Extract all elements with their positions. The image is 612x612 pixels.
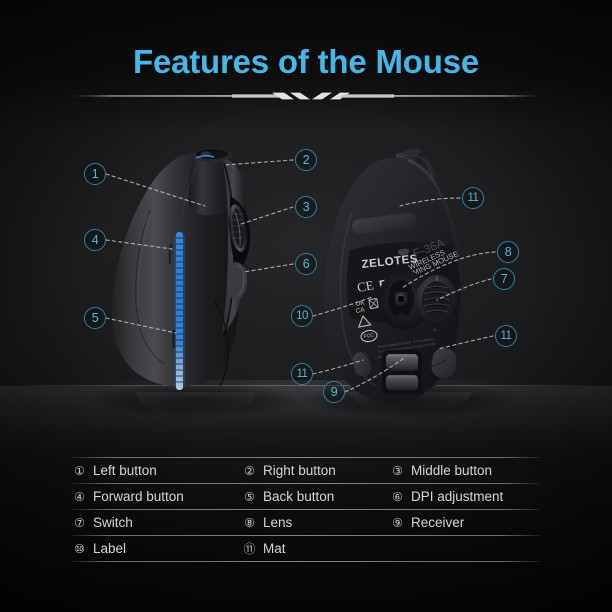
legend-item-10: ⑩ Label	[72, 542, 242, 556]
legend-item-4: ④ Forward button	[72, 490, 242, 504]
legend-number: ⑥	[390, 491, 405, 503]
callout-marker-4[interactable]: 4	[84, 229, 106, 251]
legend-number: ②	[242, 465, 257, 477]
svg-text:II: II	[434, 327, 436, 332]
legend-number: ③	[390, 465, 405, 477]
legend-number: ④	[72, 491, 87, 503]
legend-divider	[72, 561, 540, 562]
legend-label: DPI adjustment	[411, 490, 503, 504]
legend-item-7: ⑦ Switch	[72, 516, 242, 530]
callout-marker-9[interactable]: 9	[323, 381, 345, 403]
legend-item-1: ① Left button	[72, 464, 242, 478]
legend-item-6: ⑥ DPI adjustment	[390, 490, 540, 504]
legend-label: Back button	[263, 490, 334, 504]
legend-number: ⑩	[72, 543, 87, 555]
legend-row: ⑩ Label ⑪ Mat	[72, 536, 540, 561]
legend-item-8: ⑧ Lens	[242, 516, 390, 530]
led-strip	[174, 232, 185, 390]
legend-row: ⑦ Switch ⑧ Lens ⑨ Receiver	[72, 510, 540, 535]
legend-row: ④ Forward button ⑤ Back button ⑥ DPI adj…	[72, 484, 540, 509]
legend-label: Mat	[263, 542, 286, 556]
legend-item-5: ⑤ Back button	[242, 490, 390, 504]
callout-marker-6[interactable]: 6	[295, 253, 317, 275]
legend-item-11: ⑪ Mat	[242, 542, 390, 556]
legend-label: Right button	[263, 464, 336, 478]
legend-label: Switch	[93, 516, 133, 530]
legend-number: ⑤	[242, 491, 257, 503]
callout-marker-11-top[interactable]: 11	[462, 187, 484, 209]
callout-marker-8[interactable]: 8	[497, 241, 519, 263]
callout-marker-11-right[interactable]: 11	[495, 325, 517, 347]
callout-marker-2[interactable]: 2	[295, 149, 317, 171]
legend-item-2: ② Right button	[242, 464, 390, 478]
legend-item-9: ⑨ Receiver	[390, 516, 540, 530]
product-feature-diagram: Features of the Mouse	[0, 0, 612, 612]
legend-label: Label	[93, 542, 126, 556]
callout-marker-3[interactable]: 3	[295, 196, 317, 218]
legend-label: Lens	[263, 516, 292, 530]
legend-number: ⑪	[242, 543, 257, 555]
legend-label: Left button	[93, 464, 157, 478]
legend-label: Forward button	[93, 490, 184, 504]
feature-legend: ① Left button ② Right button ③ Middle bu…	[72, 457, 540, 562]
legend-item-3: ③ Middle button	[390, 464, 540, 478]
legend-label: Middle button	[411, 464, 492, 478]
legend-label: Receiver	[411, 516, 464, 530]
callout-marker-1[interactable]: 1	[84, 163, 106, 185]
callout-marker-10[interactable]: 10	[291, 305, 313, 327]
legend-number: ⑧	[242, 517, 257, 529]
legend-number: ⑨	[390, 517, 405, 529]
callout-marker-11-bottom[interactable]: 11	[291, 363, 313, 385]
mouse-bottom-view: ZELOTES ® F-36A WIRELESS GAMING MOUSE 5V…	[324, 148, 472, 420]
callout-marker-7[interactable]: 7	[493, 268, 515, 290]
legend-row: ① Left button ② Right button ③ Middle bu…	[72, 458, 540, 483]
legend-number: ①	[72, 465, 87, 477]
svg-text:CE: CE	[356, 277, 375, 295]
callout-marker-5[interactable]: 5	[84, 307, 106, 329]
legend-number: ⑦	[72, 517, 87, 529]
